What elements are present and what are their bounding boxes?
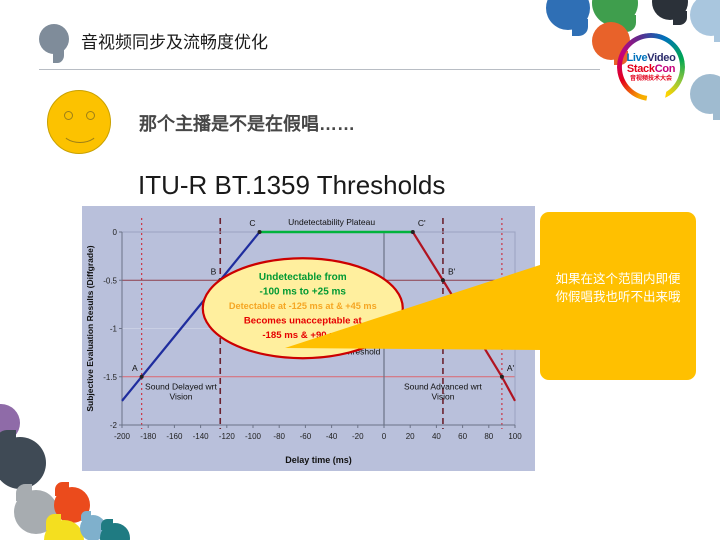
page-title: 音视频同步及流畅度优化 <box>81 28 268 53</box>
xtick-label: 0 <box>382 432 387 441</box>
ytick-label: -2 <box>110 421 118 430</box>
xtick-label: -180 <box>140 432 157 441</box>
xtick-label: -100 <box>245 432 262 441</box>
bubble-darkteal <box>100 523 130 540</box>
ellipse-text-line-1: Undetectable from <box>259 272 347 283</box>
chart-svg: ABCC'B'A' Undetectability PlateauUnaccep… <box>82 206 535 471</box>
slide-subtitle: 那个主播是不是在假唱…… <box>139 110 355 136</box>
ytick-label: -1 <box>110 325 118 334</box>
xtick-label: -200 <box>114 432 131 441</box>
ellipse-text-line-5: -185 ms & +90 ms <box>262 330 343 341</box>
chart-x-tick-labels: -200-180-160-140-120-100-80-60-40-200204… <box>114 425 522 441</box>
smiley-mouth <box>61 117 99 143</box>
xtick-label: -40 <box>326 432 338 441</box>
x-axis-label: Delay time (ms) <box>285 455 352 465</box>
logo-stack: Stack <box>627 63 655 75</box>
point-label-C: C <box>249 218 255 228</box>
bubble-slate <box>0 437 46 489</box>
xtick-label: 40 <box>432 432 441 441</box>
point-label-C': C' <box>418 218 426 228</box>
slide-canvas: LiveVideo StackCon 音视频技术大会 音视频同步及流畅度优化 那… <box>0 0 720 540</box>
ytick-label: -0.5 <box>103 276 117 285</box>
xtick-label: 100 <box>508 432 522 441</box>
chart-title: ITU-R BT.1359 Thresholds <box>138 170 445 201</box>
xtick-label: -140 <box>193 432 210 441</box>
point-dot-C <box>258 230 262 234</box>
point-dot-B' <box>441 278 445 282</box>
callout-text: 如果在这个范围内即便你假唱我也听不出来哦 <box>554 270 682 306</box>
ellipse-text-line-4: Becomes unacceptable at <box>244 316 363 327</box>
y-axis-label: Subjective Evaluation Results (Diffgrade… <box>85 245 95 411</box>
sound-advanced-label: Sound Advanced wrtVision <box>404 381 483 401</box>
point-dot-C' <box>411 230 415 234</box>
bubble-yellow <box>44 520 84 540</box>
header-divider <box>39 69 600 70</box>
ytick-label: -1.5 <box>103 373 117 382</box>
logo-text: LiveVideo StackCon 音视频技术大会 <box>617 33 685 101</box>
itu-r-bt1359-chart: ABCC'B'A' Undetectability PlateauUnaccep… <box>82 206 535 471</box>
chart-y-tick-labels: 0-0.5-1-1.5-2 <box>103 228 122 430</box>
sound-delayed-label: Sound Delayed wrtVision <box>145 381 217 401</box>
ytick-label: 0 <box>113 228 118 237</box>
xtick-label: -60 <box>300 432 312 441</box>
bubble-teal <box>690 74 720 114</box>
callout-box: 如果在这个范围内即便你假唱我也听不出来哦 <box>540 212 696 380</box>
series-sound-advanced-ramp <box>413 232 515 401</box>
livevideostackcon-logo: LiveVideo StackCon 音视频技术大会 <box>617 33 685 101</box>
xtick-label: -160 <box>166 432 183 441</box>
chart-callout-ellipse: Undetectable from-100 ms to +25 msDetect… <box>203 258 403 358</box>
point-dot-A <box>140 375 144 379</box>
point-dot-A' <box>500 375 504 379</box>
point-label-A': A' <box>507 363 515 373</box>
xtick-label: 80 <box>484 432 493 441</box>
plateau-label: Undetectability Plateau <box>288 217 375 227</box>
logo-con: Con <box>655 63 675 75</box>
bubble-dark <box>652 0 688 20</box>
smiley-face-icon <box>47 90 111 154</box>
logo-subtitle-cn: 音视频技术大会 <box>630 76 672 82</box>
point-label-A: A <box>132 363 138 373</box>
xtick-label: -80 <box>273 432 285 441</box>
xtick-label: -20 <box>352 432 364 441</box>
ellipse-text-line-2: -100 ms to +25 ms <box>260 287 347 298</box>
xtick-label: 60 <box>458 432 467 441</box>
point-label-B': B' <box>448 266 456 276</box>
point-label-B: B <box>211 266 217 276</box>
ellipse-text-line-3: Detectable at -125 ms at & +45 ms <box>229 301 377 311</box>
header-bubble-icon <box>39 24 69 54</box>
bubble-lightblue <box>690 0 720 36</box>
bubble-blue <box>546 0 590 30</box>
xtick-label: 20 <box>406 432 415 441</box>
xtick-label: -120 <box>219 432 236 441</box>
